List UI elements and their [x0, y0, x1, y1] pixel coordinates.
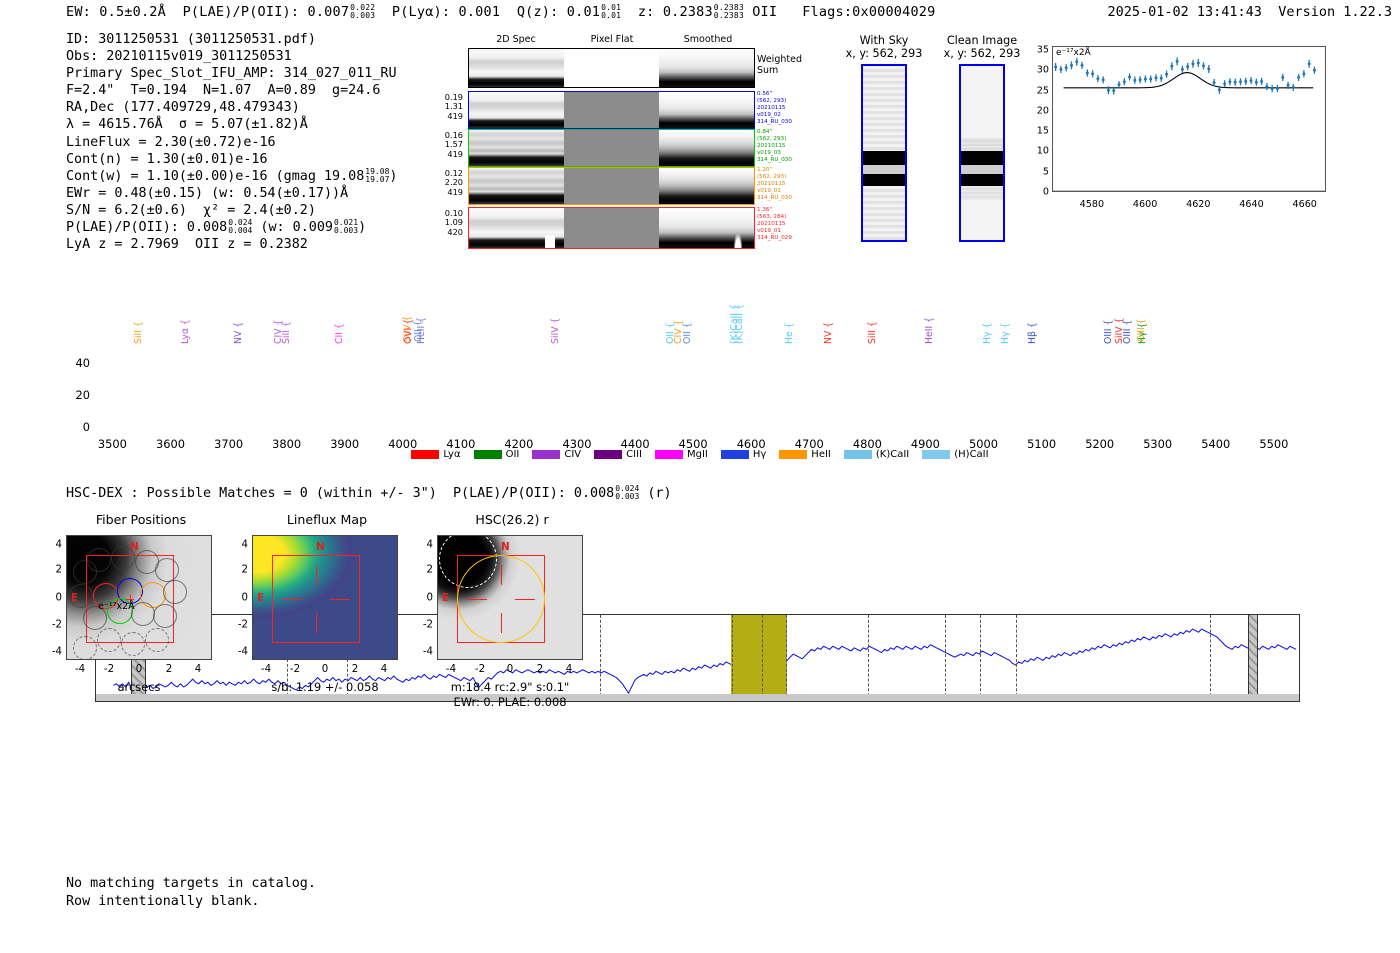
info-wavelength-sigma: λ = 4615.76Å σ = 5.07(±1.82)Å: [66, 117, 308, 132]
fiber-xt: -4: [75, 664, 85, 675]
lineflux-map-east-label: E: [257, 592, 264, 604]
legend-label: MgII: [687, 449, 708, 460]
clean-image-trace-lower: [961, 174, 1003, 186]
fiber-row-3-col: 420: [437, 228, 463, 237]
fiber-row-3-2dspec: [469, 208, 564, 248]
spectrum-ytick: 20: [76, 388, 91, 402]
fiber-row-2-dist: 1.20": [757, 167, 805, 174]
with-sky-image: [861, 64, 907, 242]
fiber-row-3-date: 20210115: [757, 221, 805, 228]
info-lineflux: LineFlux = 2.30(±0.72)e-16: [66, 135, 276, 150]
fiber-yt: 2: [56, 565, 62, 576]
spectrum-unit-label: e⁻¹⁷x2Å: [98, 601, 135, 612]
legend-swatch: [474, 450, 502, 459]
fiber-xt: 2: [166, 664, 172, 675]
spectrum-line-marker: [868, 615, 869, 701]
fiber-row-1-col: 419: [437, 150, 463, 159]
spectrum-baseline-strip: [96, 694, 1299, 701]
lineflux-xt: 0: [322, 664, 328, 675]
fiber-positions-xlabel: arcsecs: [44, 680, 234, 694]
fiber-row-1: [468, 129, 755, 167]
fiber-row-3-values: 0.10 1.09 420: [437, 209, 463, 237]
fiber-xt: -2: [104, 664, 114, 675]
fiber-positions-panel: Fiber Positions N E 4 2: [30, 512, 230, 527]
fiber-row-1-meta: 0.84" (562, 293) 20210115 v019_03 314_RU…: [757, 129, 805, 164]
fiber-row-0-xy: (562, 293): [757, 98, 805, 105]
fiber-circle: [73, 636, 97, 660]
clean-image-title-group: Clean Image x, y: 562, 293: [922, 34, 1042, 60]
header-timestamp-version: 2025-01-02 13:41:43 Version 1.22.3: [1108, 4, 1393, 20]
no-matches-line-1: No matching targets in catalog.: [66, 876, 316, 891]
legend-label: (H)CaII: [954, 449, 988, 460]
legend-swatch: [411, 450, 439, 459]
plae-lower: 0.003: [350, 12, 375, 20]
fiber-positions-east-label: E: [71, 592, 78, 604]
fiber-row-3-pixelflat: [564, 208, 659, 248]
no-matches-note: No matching targets in catalog. Row inte…: [66, 875, 316, 910]
legend-label: HeII: [811, 449, 831, 460]
fiber-row-3-smoothed: [659, 208, 754, 248]
line-fit-ytick: 0: [1043, 187, 1049, 198]
gmag-lower: 19.07: [365, 176, 389, 184]
spec2d-col-title-pixelflat: Pixel Flat: [564, 34, 660, 45]
fiber-circle: [163, 580, 187, 604]
fiber-row-3-dist: 1.36": [757, 207, 805, 214]
legend-swatch: [594, 450, 622, 459]
fiber-positions-title: Fiber Positions: [66, 512, 216, 527]
emission-line-label: HeII {: [416, 314, 427, 344]
line-fit-ytick: 30: [1037, 65, 1049, 76]
hsc-r-cross-left: [467, 599, 487, 600]
line-fit-plot: e⁻¹⁷x2Å 05101520253035458046004620464046…: [1034, 44, 1326, 214]
z-bounds: 0.23830.2383: [714, 4, 744, 20]
hsc-r-caption-2: EWr: 0. PLAE: 0.008: [415, 695, 605, 709]
no-matches-line-2: Row intentionally blank.: [66, 894, 259, 909]
legend-item: Lyα: [411, 449, 460, 460]
emission-line-label: SiII {: [281, 314, 292, 344]
fiber-row-0-dist: 0.56": [757, 91, 805, 98]
fiber-circle: [97, 628, 121, 652]
clean-image-faint-lower: [961, 186, 1003, 200]
legend-item: CIII: [594, 449, 642, 460]
emission-line-label: OII {: [682, 314, 693, 344]
with-sky-trace-lower: [863, 174, 905, 186]
fiber-row-2-pixelflat: [564, 168, 659, 204]
fiber-row-0-smoothed: [659, 92, 754, 128]
spec2d-weighted-sum-row: [468, 48, 755, 88]
info-cont-n: Cont(n) = 1.30(±0.01)e-16: [66, 152, 268, 167]
emission-line-label: SiIV {: [550, 314, 561, 344]
line-fit-xtick: 4620: [1186, 199, 1210, 210]
fiber-circle: [155, 558, 179, 582]
fiber-row-0-pixelflat: [564, 92, 659, 128]
legend-item: (K)CaII: [844, 449, 909, 460]
info-ewr: EWr = 0.48(±0.15) (w: 0.54(±0.17))Å: [66, 186, 348, 201]
spectrum-masked-band: [1248, 615, 1258, 701]
fiber-row-3: [468, 207, 755, 249]
fiber-row-2-xy: (562, 293): [757, 174, 805, 181]
fiber-row-1-2dspec: [469, 130, 564, 166]
hscdex-plae-bounds: 0.0240.003: [615, 485, 639, 501]
version-label: Version 1.22.3: [1278, 4, 1392, 20]
clean-image-trace-upper: [961, 151, 1003, 165]
fiber-row-0-date: 20210115: [757, 105, 805, 112]
spectrum-ytick: 0: [83, 420, 90, 434]
lineflux-map-title: Lineflux Map: [252, 512, 402, 527]
header-summary-line: EW: 0.5±0.2Å P(LAE)/P(OII): 0.0070.0220.…: [66, 4, 935, 20]
fiber-circle: [121, 632, 145, 656]
lineflux-xt: 4: [381, 664, 387, 675]
info-id: ID: 3011250531 (3011250531.pdf): [66, 32, 316, 47]
plae-ratio-bounds: 0.0220.003: [350, 4, 375, 20]
line-fit-ytick: 15: [1037, 126, 1049, 137]
with-sky-pixels: [863, 66, 905, 240]
hsc-r-east-label: E: [442, 592, 449, 604]
spec2d-panel-group: 2D Spec Pixel Flat Smoothed WeightedSum …: [437, 34, 797, 259]
lineflux-map-plot: N E: [252, 535, 398, 660]
elixer-report-page: EW: 0.5±0.2Å P(LAE)/P(OII): 0.0070.0220.…: [0, 0, 1400, 953]
hsc-xt: 4: [566, 664, 572, 675]
fiber-row-3-mask-notch: [545, 235, 555, 248]
lineflux-yt: 4: [242, 540, 248, 551]
fiber-circle: [153, 604, 177, 628]
hsc-r-cross-right: [515, 599, 535, 600]
info-params: F=2.4" T=0.194 N=1.07 A=0.89 g=24.6: [66, 83, 380, 98]
with-sky-coords: x, y: 562, 293: [846, 47, 923, 60]
legend-swatch: [844, 450, 872, 459]
spectrum-line-marker: [762, 615, 763, 701]
gmag-bounds: 19.0819.07: [365, 168, 389, 184]
fiber-row-0: [468, 91, 755, 129]
fiber-row-2-amp: 314_RU_030: [757, 195, 805, 202]
full-spectrum-panel: SiII {Lyα {NV {CIV {SiII {CII {SiIV {OII…: [0, 270, 1400, 470]
emission-line-label: CII {: [334, 314, 345, 344]
hsc-yt: -4: [423, 647, 433, 658]
fiber-row-2-values: 0.12 2.20 419: [437, 169, 463, 197]
weighted-sum-pixelflat-image: [564, 49, 659, 87]
fiber-row-0-values: 0.19 1.31 419: [437, 93, 463, 121]
line-fit-svg: [1053, 47, 1325, 191]
info-cont-w: Cont(w) = 1.10(±0.00)e-16 (gmag 19.0819.…: [66, 169, 397, 184]
lineflux-map-cross-up: [316, 565, 317, 585]
fiber-row-0-2dspec: [469, 92, 564, 128]
lineflux-xt: -4: [261, 664, 271, 675]
line-fit-unit-label: e⁻¹⁷x2Å: [1056, 48, 1091, 58]
legend-swatch: [532, 450, 560, 459]
line-fit-ytick: 5: [1043, 166, 1049, 177]
emission-line-label: HeII {: [924, 314, 935, 344]
spectrum-legend: LyαOIICIVCIIIMgIIHγHeII(K)CaII(H)CaII: [0, 445, 1400, 463]
spectrum-highlight-band: [731, 615, 787, 701]
line-fit-ytick: 20: [1037, 105, 1049, 116]
fiber-row-3-exp: v019_01: [757, 228, 805, 235]
fiber-row-2-col: 419: [437, 188, 463, 197]
fiber-row-1-smoothed: [659, 130, 754, 166]
fiber-row-1-pixelflat: [564, 130, 659, 166]
clean-image-coords: x, y: 562, 293: [944, 47, 1021, 60]
emission-line-label: Hβ {: [1027, 314, 1038, 344]
line-fit-axes: e⁻¹⁷x2Å: [1052, 46, 1326, 192]
emission-line-label: OIII {: [1103, 314, 1114, 344]
hsc-r-cross-up: [501, 565, 502, 585]
clean-image-faint-upper: [961, 138, 1003, 151]
legend-swatch: [922, 450, 950, 459]
lineflux-map-panel: Lineflux Map N E 4 2 0 -2 -4 -4 -2 0 2 4…: [216, 512, 416, 527]
lineflux-map-cross-right: [330, 599, 350, 600]
info-plae-w-bounds: 0.0210.003: [334, 219, 358, 235]
fiber-yt: -4: [52, 647, 62, 658]
spectrum-line-marker: [945, 615, 946, 701]
info-radec: RA,Dec (177.409729,48.479343): [66, 100, 300, 115]
fiber-row-2: [468, 167, 755, 205]
emission-line-label: Hγ {: [982, 314, 993, 344]
fiber-row-1-xy: (562, 293): [757, 136, 805, 143]
line-fit-xtick: 4600: [1133, 199, 1157, 210]
lineflux-map-cross-left: [282, 599, 302, 600]
fiber-row-0-amp: 314_RU_030: [757, 119, 805, 126]
fiber-yt: 0: [56, 592, 62, 603]
legend-swatch: [779, 450, 807, 459]
lineflux-yt: 2: [242, 565, 248, 576]
info-plae-lower: 0.004: [228, 227, 252, 235]
legend-swatch: [721, 450, 749, 459]
fiber-row-1-values: 0.16 1.57 419: [437, 131, 463, 159]
legend-item: HeII: [779, 449, 831, 460]
clean-image: [959, 64, 1005, 242]
with-sky-title: With Sky: [860, 34, 909, 47]
lineflux-yt: -2: [238, 620, 248, 631]
info-sn-chi2: S/N = 6.2(±0.6) χ² = 2.4(±0.2): [66, 203, 316, 218]
legend-item: MgII: [655, 449, 708, 460]
legend-label: OII: [506, 449, 520, 460]
hsc-xt: -2: [475, 664, 485, 675]
fiber-row-2-2dspec: [469, 168, 564, 204]
with-sky-trace-upper: [863, 151, 905, 165]
legend-label: (K)CaII: [876, 449, 909, 460]
info-plae-bounds: 0.0240.004: [228, 219, 252, 235]
emission-line-label: OVI {: [403, 314, 414, 344]
legend-item: Hγ: [721, 449, 766, 460]
spectrum-line-marker: [732, 615, 733, 701]
weighted-sum-2dspec-image: [469, 49, 564, 87]
lineflux-map-north-label: N: [316, 541, 325, 553]
lineflux-xt: -2: [290, 664, 300, 675]
info-plae-poii: P(LAE)/P(OII): 0.0080.0240.004 (w: 0.009…: [66, 220, 366, 235]
qz-bounds: 0.010.01: [601, 4, 621, 20]
info-obs: Obs: 20210115v019_3011250531: [66, 49, 292, 64]
legend-label: CIII: [626, 449, 642, 460]
hsc-r-panel: HSC(26.2) r N E 4 2 0 -2 -4 -4 -2 0 2 4 …: [401, 512, 601, 527]
fiber-row-1-exp: v019_03: [757, 150, 805, 157]
line-fit-ytick: 35: [1037, 45, 1049, 56]
qz-lower: 0.01: [601, 12, 621, 20]
line-fit-ytick: 25: [1037, 85, 1049, 96]
hsc-r-cross-down: [501, 613, 502, 633]
fiber-row-1-dist: 0.84": [757, 129, 805, 136]
z-lower: 0.2383: [714, 12, 744, 20]
clean-image-title: Clean Image: [947, 34, 1017, 47]
hsc-dex-summary: HSC-DEX : Possible Matches = 0 (within +…: [66, 485, 672, 501]
info-redshifts: LyA z = 2.7969 OII z = 0.2382: [66, 237, 308, 252]
hsc-r-north-label: N: [501, 541, 510, 553]
legend-item: (H)CaII: [922, 449, 988, 460]
emission-line-label: NV {: [233, 314, 244, 344]
spectrum-line-marker: [1016, 615, 1017, 701]
emission-line-label: Lyα {: [180, 314, 191, 344]
hsc-yt: 0: [427, 592, 433, 603]
emission-line-label: Hγ {: [1000, 314, 1011, 344]
fiber-xt: 4: [195, 664, 201, 675]
clean-image-pixels: [961, 66, 1003, 240]
legend-label: CIV: [564, 449, 581, 460]
spectrum-line-marker: [786, 615, 787, 701]
lineflux-yt: 0: [242, 592, 248, 603]
fiber-row-3-meta: 1.36" (563, 284) 20210115 v019_01 314_RU…: [757, 207, 805, 242]
emission-line-label: Hγ {: [1137, 314, 1148, 344]
hsc-xt: -4: [446, 664, 456, 675]
info-primary-spec: Primary Spec_Slot_IFU_AMP: 314_027_011_R…: [66, 66, 397, 81]
detection-info-block: ID: 3011250531 (3011250531.pdf) Obs: 202…: [66, 31, 397, 254]
lineflux-xt: 2: [352, 664, 358, 675]
fiber-positions-north-label: N: [130, 541, 139, 553]
emission-line-label: He {: [784, 314, 795, 344]
fiber-yt: 4: [56, 540, 62, 551]
fiber-row-2-exp: v019_01: [757, 188, 805, 195]
spec2d-col-title-2dspec: 2D Spec: [468, 34, 564, 45]
line-fit-xtick: 4580: [1080, 199, 1104, 210]
fiber-yt: -2: [52, 620, 62, 631]
legend-label: Lyα: [443, 449, 460, 460]
weighted-sum-smoothed-image: [659, 49, 754, 87]
fiber-row-3-amp: 314_RU_029: [757, 235, 805, 242]
line-fit-xtick: 4640: [1239, 199, 1263, 210]
emission-line-label: SiII {: [133, 314, 144, 344]
hsc-r-title: HSC(26.2) r: [437, 512, 587, 527]
emission-line-label: (K)CaII {: [734, 314, 745, 344]
hsc-yt: 4: [427, 540, 433, 551]
spec2d-col-title-smoothed: Smoothed: [660, 34, 756, 45]
fiber-circle: [87, 548, 111, 572]
timestamp: 2025-01-02 13:41:43: [1108, 4, 1262, 20]
fiber-circle: [145, 628, 169, 652]
fiber-row-2-date: 20210115: [757, 181, 805, 188]
emission-line-label: OIII {: [1122, 314, 1133, 344]
hsc-xt: 2: [537, 664, 543, 675]
hsc-r-caption-1: m:18.4 rc:2.9" s:0.1": [415, 680, 605, 694]
hsc-r-plot: N E: [437, 535, 583, 660]
fiber-row-0-col: 419: [437, 112, 463, 121]
fiber-xt: 0: [136, 664, 142, 675]
line-fit-xtick: 4660: [1292, 199, 1316, 210]
emission-line-label: SiII {: [867, 314, 878, 344]
fiber-row-3-smoothed-notch: [734, 234, 742, 248]
fiber-row-0-meta: 0.56" (562, 293) 20210115 v019_02 314_RU…: [757, 91, 805, 126]
legend-swatch: [655, 450, 683, 459]
weighted-sum-label: WeightedSum: [757, 54, 802, 76]
lineflux-map-cross-down: [316, 613, 317, 633]
hsc-xt: 0: [507, 664, 513, 675]
emission-line-label: NV {: [823, 314, 834, 344]
lineflux-yt: -4: [238, 647, 248, 658]
spectrum-line-marker: [1210, 615, 1211, 701]
hsc-yt: -2: [423, 620, 433, 631]
fiber-row-1-amp: 314_RU_030: [757, 157, 805, 164]
line-fit-ytick: 10: [1037, 146, 1049, 157]
fiber-row-1-date: 20210115: [757, 143, 805, 150]
hscdex-plae-lower: 0.003: [615, 493, 639, 501]
legend-label: Hγ: [753, 449, 766, 460]
fiber-row-0-exp: v019_02: [757, 112, 805, 119]
legend-item: CIV: [532, 449, 581, 460]
clean-image-trace-gap: [961, 165, 1003, 174]
hsc-yt: 2: [427, 565, 433, 576]
legend-item: OII: [474, 449, 520, 460]
fiber-positions-plot: N E: [66, 535, 212, 660]
lineflux-map-caption: s/b: 1.19 +/- 0.058: [230, 680, 420, 694]
fiber-row-2-meta: 1.20" (562, 293) 20210115 v019_01 314_RU…: [757, 167, 805, 202]
spectrum-ytick: 40: [76, 356, 91, 370]
spectrum-line-marker: [980, 615, 981, 701]
with-sky-trace-gap: [863, 165, 905, 174]
fiber-row-3-xy: (563, 284): [757, 214, 805, 221]
info-plae-w-lower: 0.003: [334, 227, 358, 235]
fiber-row-2-smoothed: [659, 168, 754, 204]
